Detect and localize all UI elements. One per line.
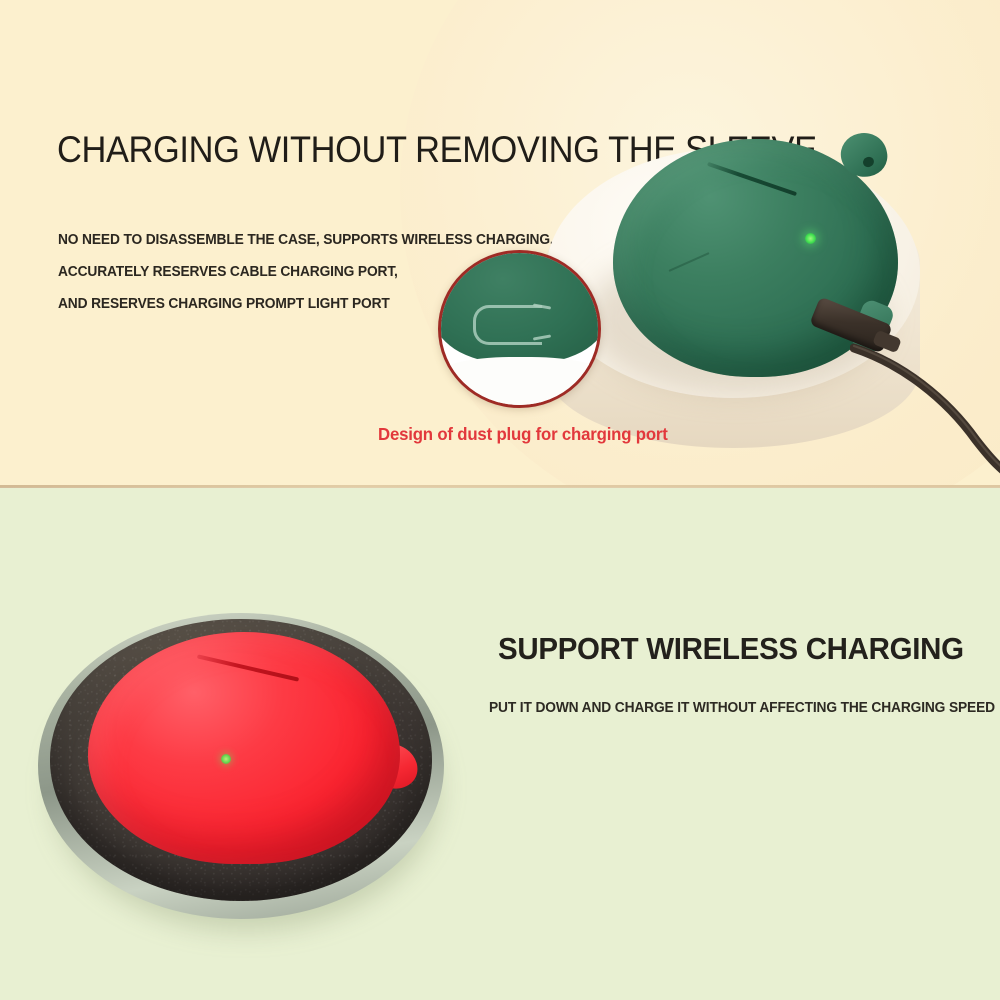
dust-plug-outline-icon — [473, 305, 542, 345]
feature-line: AND RESERVES CHARGING PROMPT LIGHT PORT — [58, 288, 476, 320]
feature-line: NO NEED TO DISASSEMBLE THE CASE, SUPPORT… — [58, 224, 476, 256]
section-subtitle: PUT IT DOWN AND CHARGE IT WITHOUT AFFECT… — [489, 700, 995, 716]
red-earbuds-case — [88, 632, 400, 864]
magnified-white-base — [438, 357, 601, 408]
panel-charging-without-removing-sleeve: CHARGING WITHOUT REMOVING THE SLEEVE NO … — [0, 0, 1000, 487]
charging-led-indicator — [221, 754, 231, 764]
charging-led-indicator — [805, 233, 816, 244]
product-feature-banner: CHARGING WITHOUT REMOVING THE SLEEVE NO … — [0, 0, 1000, 1000]
feature-line: ACCURATELY RESERVES CABLE CHARGING PORT, — [58, 256, 476, 288]
section-title: SUPPORT WIRELESS CHARGING — [498, 631, 964, 667]
usb-c-connector — [812, 308, 908, 350]
inset-caption: Design of dust plug for charging port — [378, 424, 668, 445]
feature-description-list: NO NEED TO DISASSEMBLE THE CASE, SUPPORT… — [58, 224, 498, 320]
dust-plug-magnifier-inset — [438, 250, 601, 408]
